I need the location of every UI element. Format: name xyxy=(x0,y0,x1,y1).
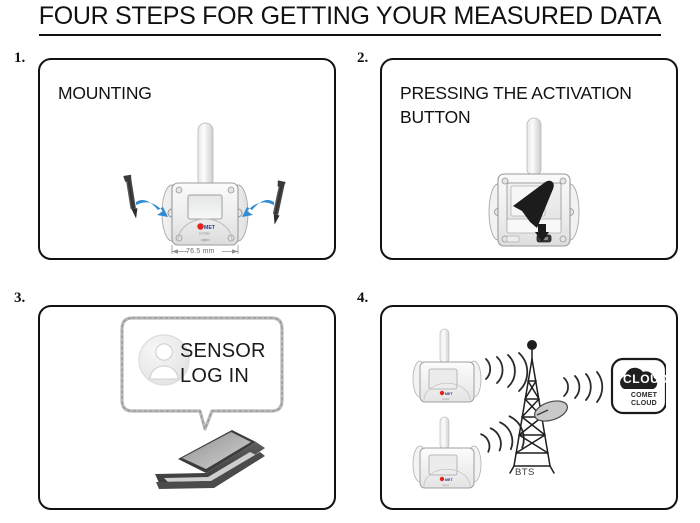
panel-1-caption: MOUNTING xyxy=(58,82,152,106)
cloud-sub-label: COMET CLOUD xyxy=(621,392,667,408)
svg-text:sigfox: sigfox xyxy=(442,483,450,487)
page-title: FOUR STEPS FOR GETTING YOUR MEASURED DAT… xyxy=(39,2,661,36)
blue-arrow-right xyxy=(242,200,274,217)
mounting-wing-left xyxy=(489,184,507,240)
sensor-top: MET sigfox xyxy=(413,329,481,402)
mounting-wing-left xyxy=(162,185,182,241)
infographic-page: FOUR STEPS FOR GETTING YOUR MEASURED DAT… xyxy=(0,0,700,523)
activation-button xyxy=(537,235,551,242)
svg-text:sigfox: sigfox xyxy=(201,238,210,242)
antenna-icon xyxy=(198,123,213,188)
radio-waves-top xyxy=(486,353,527,391)
panel-step-4: MET sigfox MET sigfox xyxy=(380,305,678,510)
screw-right xyxy=(272,180,286,225)
artwork-activation-button xyxy=(474,112,594,257)
sensor-body xyxy=(172,183,238,245)
svg-text:SYSTEM: SYSTEM xyxy=(199,232,210,236)
sensor-bottom: MET sigfox xyxy=(413,417,481,488)
radio-waves-cloud xyxy=(564,372,602,402)
dimension-label: 76.5 mm xyxy=(186,248,215,255)
panel-step-1: MOUNTING xyxy=(38,58,336,260)
cloud-label: CLOUD xyxy=(623,372,669,386)
sensor-body-back xyxy=(498,174,570,246)
step-number-1: 1. xyxy=(14,50,25,67)
svg-text:MET: MET xyxy=(204,225,216,231)
step-number-4: 4. xyxy=(357,290,368,307)
step-number-2: 2. xyxy=(357,50,368,67)
laptop-icon xyxy=(155,430,265,489)
tower-dish-icon xyxy=(532,397,570,425)
mounting-wing-right xyxy=(561,184,579,240)
svg-text:MET: MET xyxy=(445,478,453,482)
radio-waves-bottom xyxy=(479,414,529,460)
screw-left xyxy=(123,175,139,219)
comet-logo-icon: MET SYSTEM sigfox xyxy=(197,223,215,242)
panel-2-caption: PRESSING THE ACTIVATION BUTTON xyxy=(400,82,662,129)
press-arrow-icon xyxy=(513,181,554,242)
title-container: FOUR STEPS FOR GETTING YOUR MEASURED DAT… xyxy=(0,2,700,36)
artwork-mounting-sensor: MET SYSTEM sigfox xyxy=(100,105,310,255)
blue-arrow-left xyxy=(136,200,168,217)
bubble-text-sensor-login: SENSOR LOG IN xyxy=(180,339,266,389)
bts-tower-icon xyxy=(510,340,554,473)
svg-text:sigfox: sigfox xyxy=(442,397,450,401)
panel-step-3: SENSOR LOG IN xyxy=(38,305,336,510)
step-number-3: 3. xyxy=(14,290,25,307)
bts-label: BTS xyxy=(515,467,535,478)
panel-step-2: PRESSING THE ACTIVATION BUTTON xyxy=(380,58,678,260)
mounting-wing-right xyxy=(228,185,248,241)
svg-text:MET: MET xyxy=(445,392,453,396)
